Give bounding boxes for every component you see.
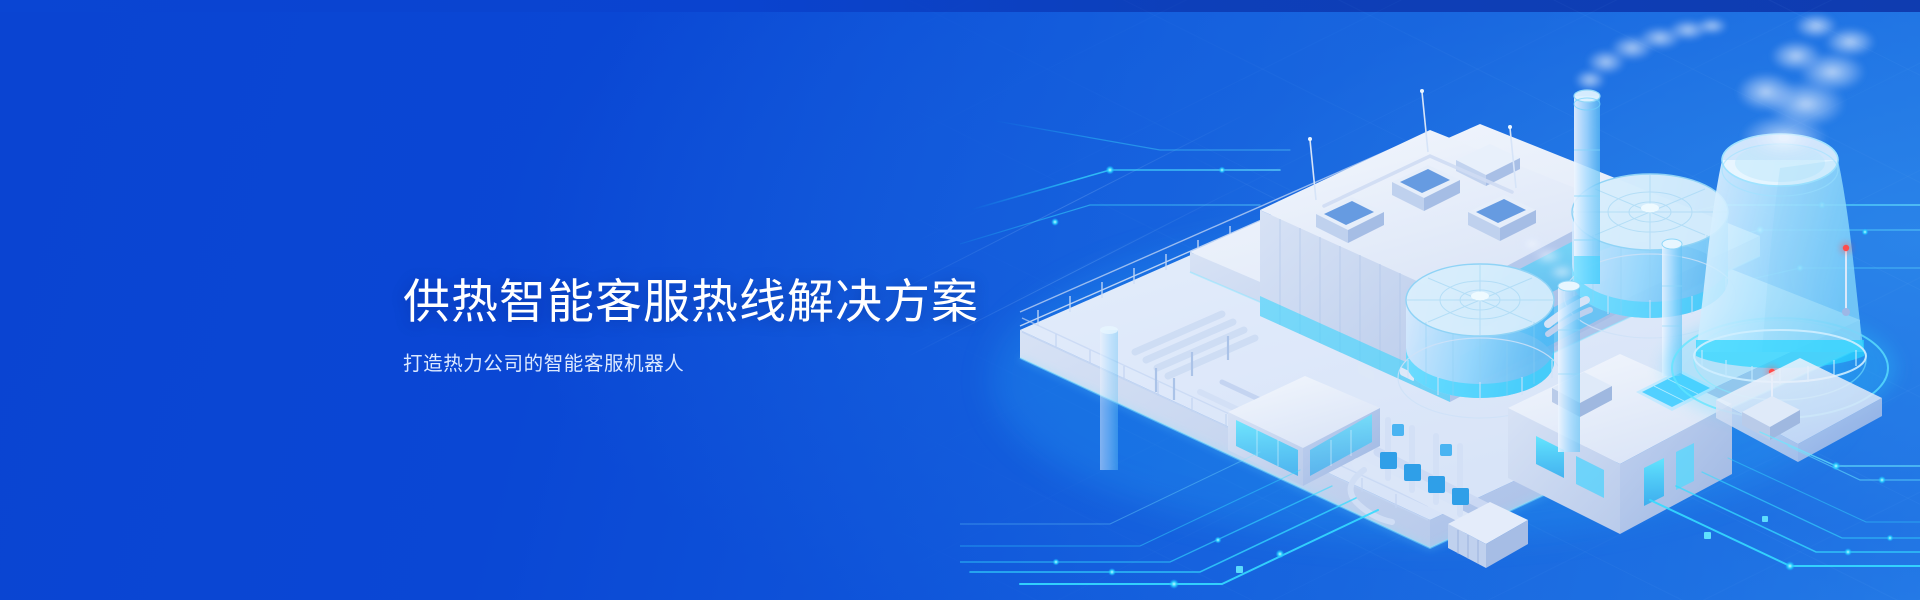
smokestack-tall <box>1574 90 1600 284</box>
steam-plume-cooling-tower <box>1736 13 1876 162</box>
steam-plume-tall-stack <box>1574 17 1728 91</box>
smokestack-medium <box>1558 281 1580 452</box>
hero-banner: 供热智能客服热线解决方案 打造热力公司的智能客服机器人 <box>0 0 1920 600</box>
page-subtitle: 打造热力公司的智能客服机器人 <box>403 355 1163 375</box>
page-title: 供热智能客服热线解决方案 <box>403 278 1163 325</box>
hero-copy: 供热智能客服热线解决方案 打造热力公司的智能客服机器人 <box>403 278 1163 375</box>
